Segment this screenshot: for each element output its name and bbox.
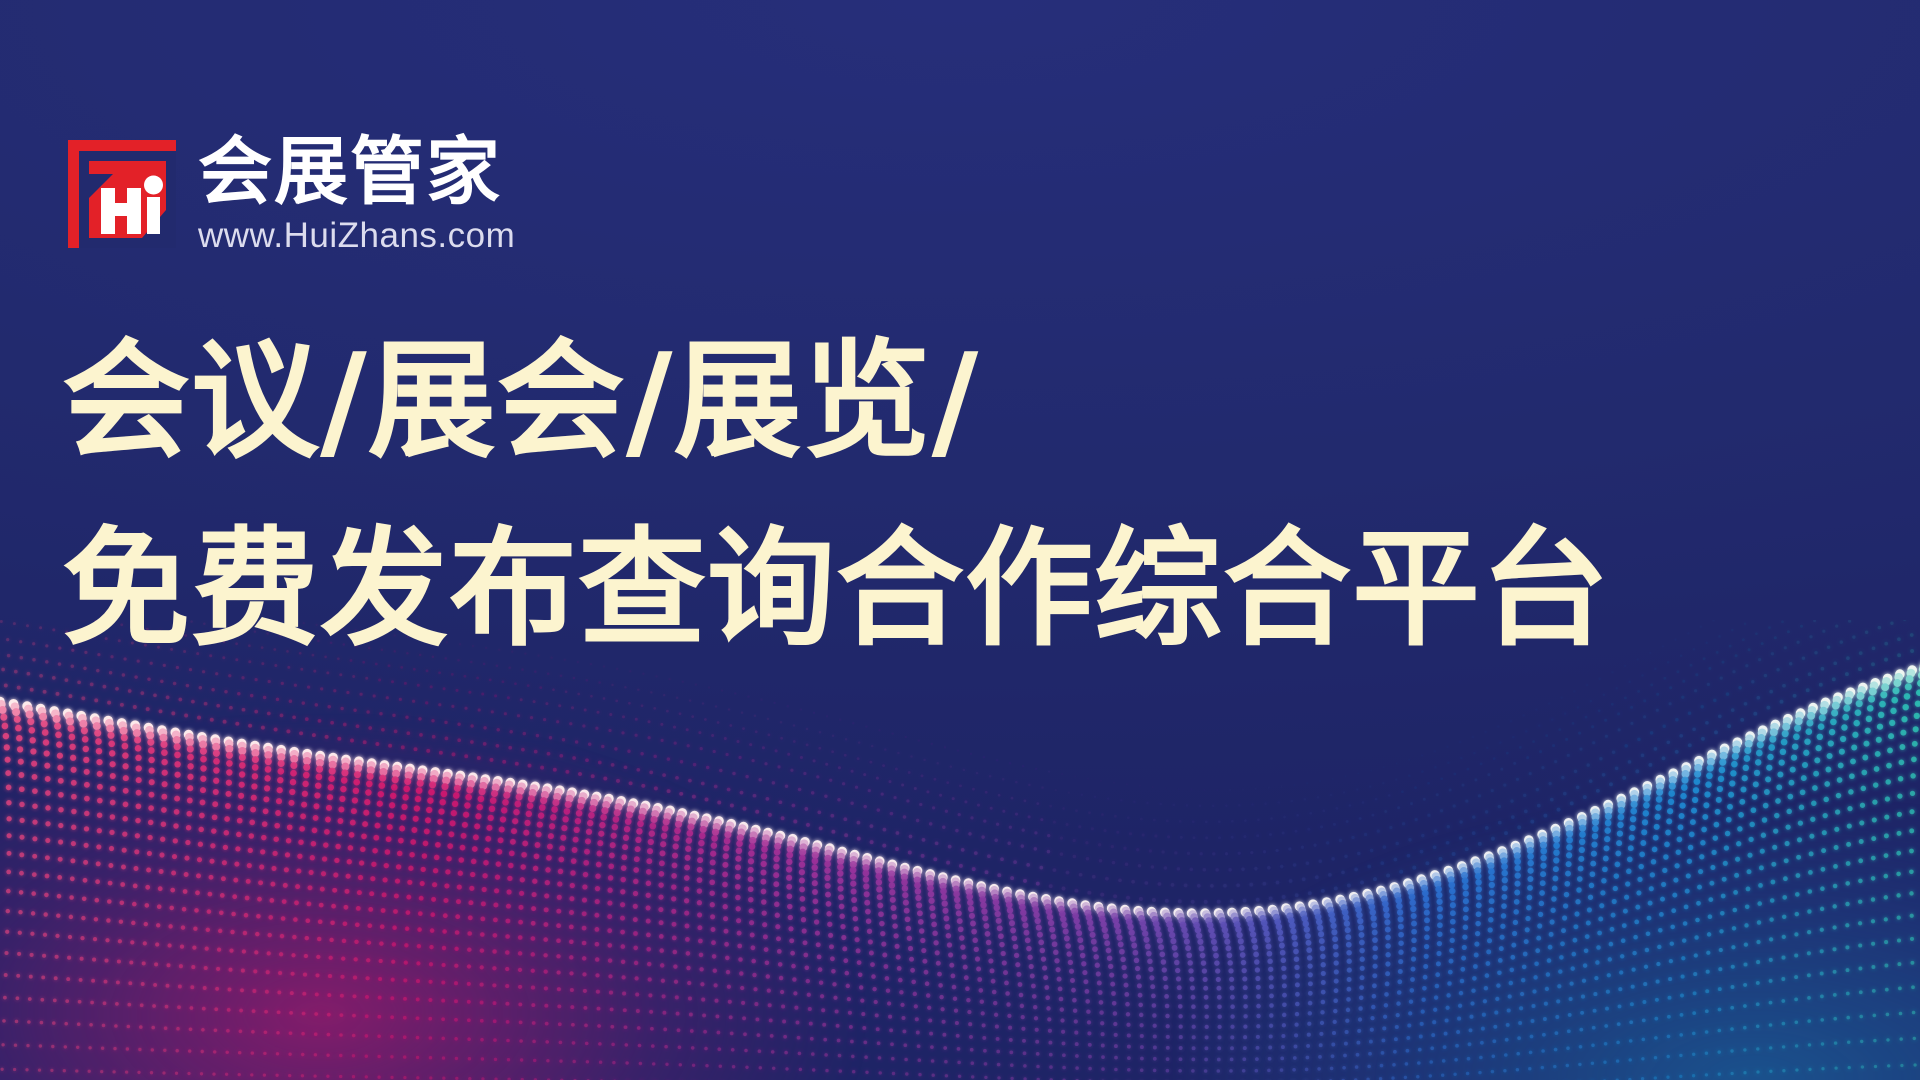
promo-banner: 会展管家 www.HuiZhans.com 会议/展会/展览/ 免费发布查询合作…: [0, 0, 1920, 1080]
logo-mark-icon: [68, 140, 176, 248]
brand-wordmark: 会展管家 www.HuiZhans.com: [198, 138, 515, 253]
brand-website-text: www.HuiZhans.com: [198, 218, 515, 253]
headline-line-1: 会议/展会/展览/: [62, 338, 1862, 466]
headline-block: 会议/展会/展览/ 免费发布查询合作综合平台: [62, 338, 1862, 654]
brand-name-text: 会展管家: [198, 138, 515, 206]
headline-line-2: 免费发布查询合作综合平台: [62, 526, 1862, 654]
brand-logo[interactable]: 会展管家 www.HuiZhans.com: [68, 138, 515, 253]
